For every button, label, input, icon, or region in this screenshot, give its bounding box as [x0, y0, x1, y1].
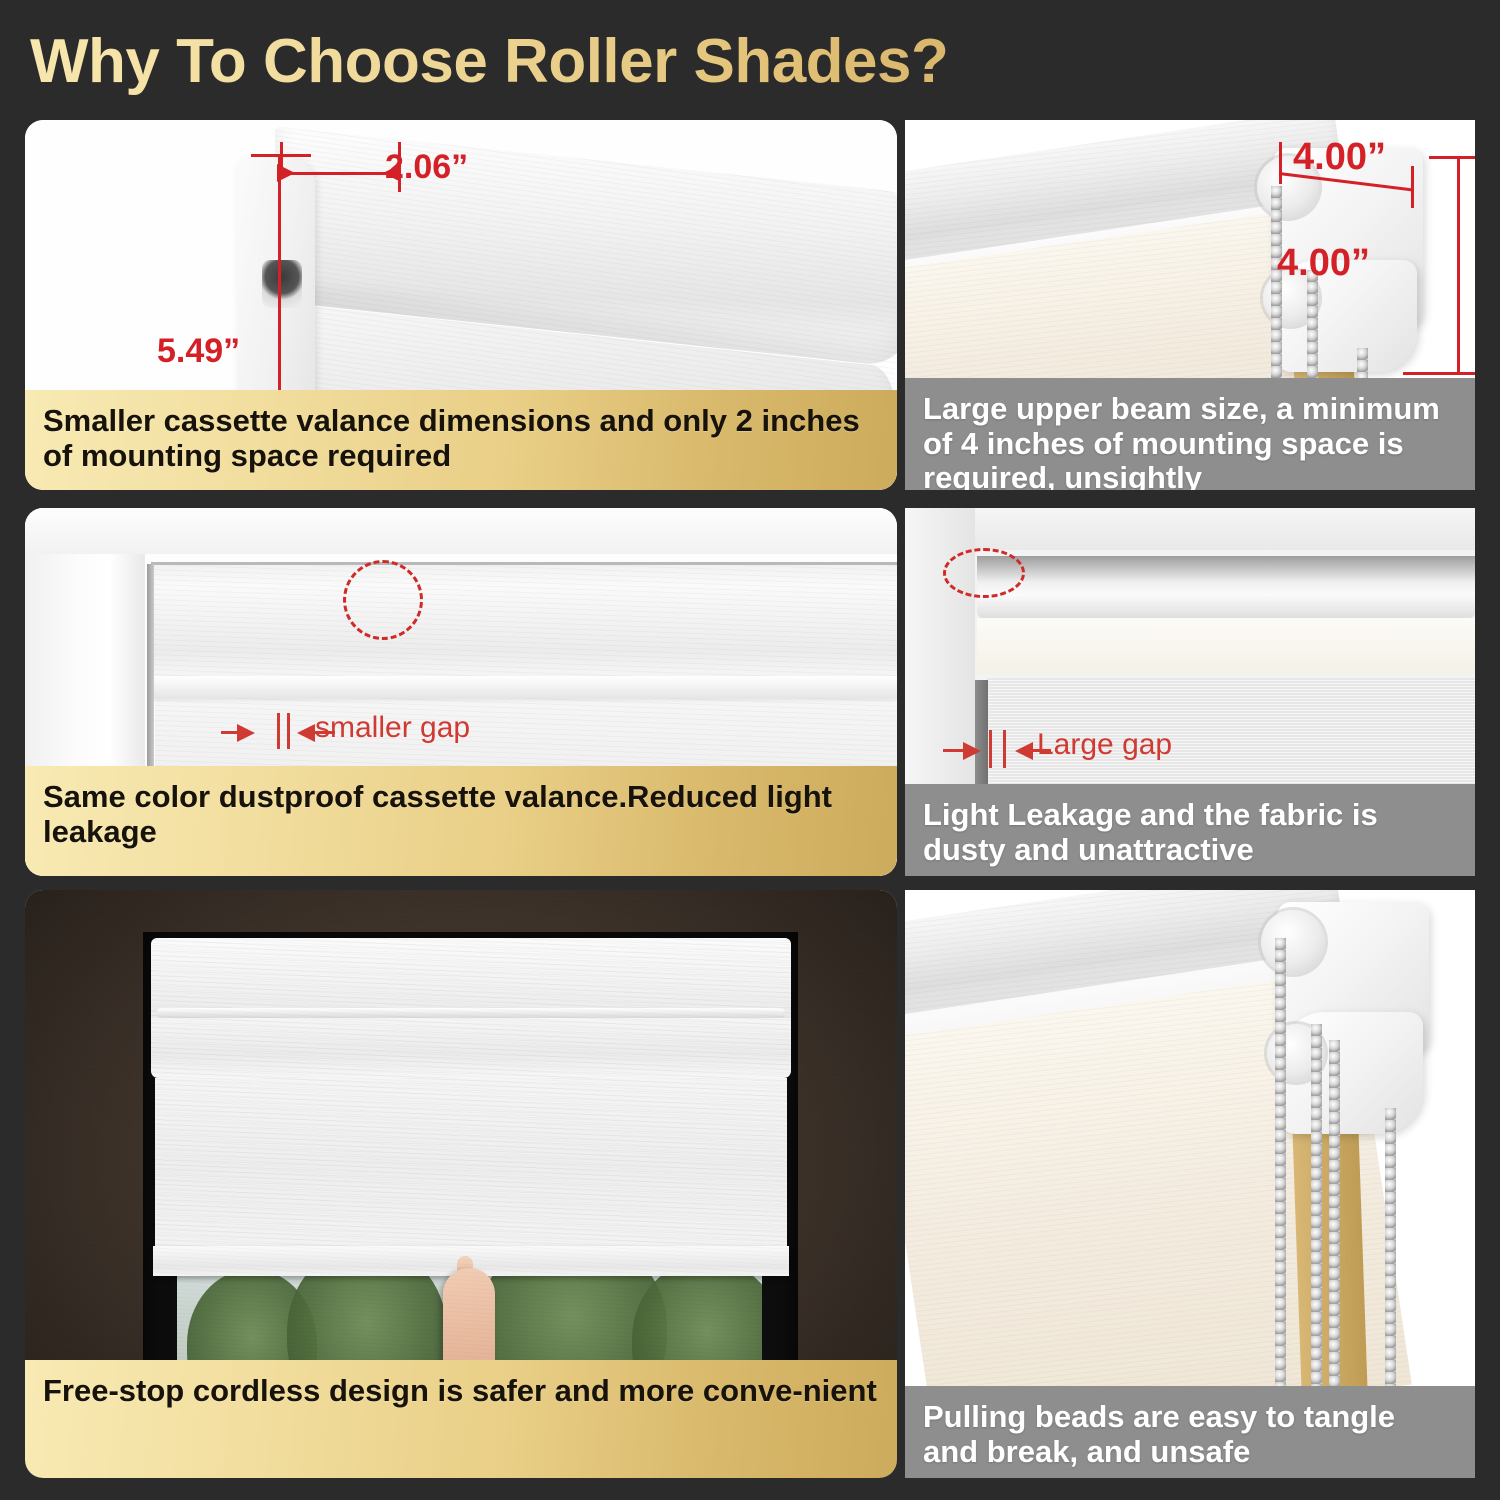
dimension-label-bracket-width: 4.00” — [1293, 136, 1386, 179]
gap-arrow-right — [297, 724, 315, 742]
dim-line-bracket-height — [1457, 156, 1460, 374]
panel-pro-light-leakage: smaller gap Same color dustproof cassett… — [25, 508, 897, 876]
caption-con-beam-size: Large upper beam size, a minimum of 4 in… — [905, 378, 1475, 490]
gap-tick-a — [277, 713, 280, 749]
gap-tick-b — [1003, 730, 1006, 768]
panel-pro-cassette-size: 2.06” 5.49” Smaller cassette valance dim… — [25, 120, 897, 490]
dim-tick-bracket-right — [1411, 166, 1414, 208]
dim-cap-bracket-top — [1429, 156, 1475, 159]
caption-pro-light-leakage: Same color dustproof cassette valance.Re… — [25, 766, 897, 876]
dim-cap-bracket-bottom — [1403, 372, 1475, 375]
gap-label-large: Large gap — [1037, 728, 1172, 762]
gap-tick-a — [989, 730, 992, 768]
gap-arrow-right — [1015, 742, 1033, 760]
dim-line-width — [280, 172, 400, 175]
gap-label-smaller: smaller gap — [315, 711, 470, 745]
dimension-label-height: 5.49” — [157, 332, 240, 371]
dim-tick-bracket-left — [1279, 142, 1282, 184]
highlight-circle-gap — [943, 548, 1025, 598]
infographic-board: Why To Choose Roller Shades? 2.06” 5.49”… — [0, 0, 1500, 1500]
bead-chain-front — [1275, 938, 1286, 1458]
gap-arrow-left — [963, 742, 981, 760]
gap-arrow-left — [237, 724, 255, 742]
panel-pro-cordless: Free-stop cordless design is safer and m… — [25, 890, 897, 1478]
caption-pro-cordless: Free-stop cordless design is safer and m… — [25, 1360, 897, 1478]
dim-cap-top — [251, 154, 311, 157]
dimension-label-width: 2.06” — [385, 148, 468, 187]
caption-con-beads: Pulling beads are easy to tangle and bre… — [905, 1386, 1475, 1478]
caption-con-light-leakage: Light Leakage and the fabric is dusty an… — [905, 784, 1475, 876]
gap-tick-b — [287, 713, 290, 749]
panel-con-light-leakage: Large gap Light Leakage and the fabric i… — [905, 508, 1475, 876]
highlight-circle-gap — [343, 560, 423, 640]
page-title: Why To Choose Roller Shades? — [30, 22, 1230, 102]
dim-arrow-right — [277, 164, 295, 182]
panel-con-beads: Pulling beads are easy to tangle and bre… — [905, 890, 1475, 1478]
dimension-label-bracket-height: 4.00” — [1277, 242, 1370, 285]
caption-pro-cassette-size: Smaller cassette valance dimensions and … — [25, 390, 897, 490]
panel-con-beam-size: 4.00” 4.00” Large upper beam size, a min… — [905, 120, 1475, 490]
